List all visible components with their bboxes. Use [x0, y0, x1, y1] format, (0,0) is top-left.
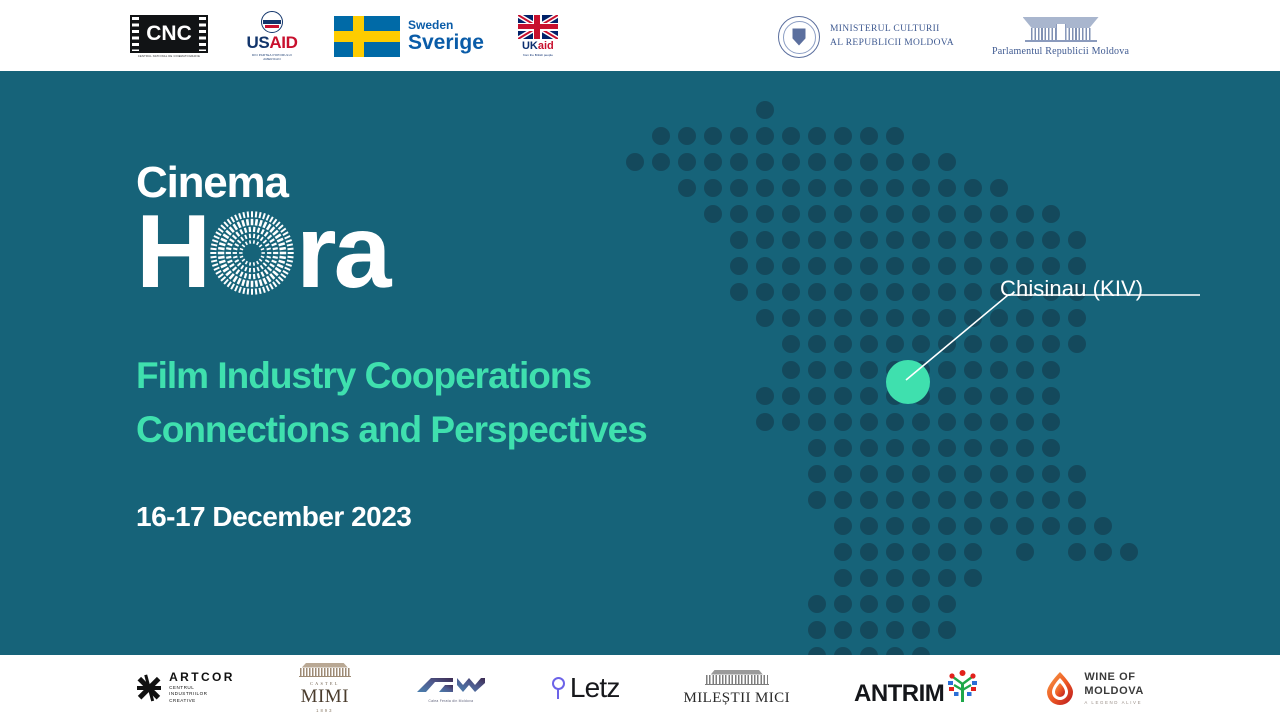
map-dot: [1016, 543, 1034, 561]
castel-mimi-logo: CASTEL MIMI 1893: [299, 663, 351, 713]
parliament-label: Parlamentul Republicii Moldova: [992, 46, 1129, 57]
artcor-sub-2: INDUSTRIILOR: [169, 691, 235, 698]
map-dot: [886, 621, 904, 639]
sweden-label-en: Sweden: [408, 19, 484, 31]
map-dot: [990, 517, 1008, 535]
antrim-tree-icon: [946, 670, 980, 702]
map-dot: [834, 517, 852, 535]
map-dot: [886, 517, 904, 535]
hora-circle-icon: [209, 210, 295, 296]
usaid-wordmark: USAID: [247, 34, 298, 51]
ministry-line-2: AL REPUBLICII MOLDOVA: [830, 37, 954, 51]
ukaid-caption: from the British people: [523, 53, 553, 57]
map-dot: [1094, 543, 1112, 561]
map-dot: [860, 595, 878, 613]
map-dot: [1068, 517, 1086, 535]
map-dot: [964, 517, 982, 535]
map-dot: [886, 595, 904, 613]
sweden-flag-icon: [334, 16, 400, 57]
ministry-of-culture-logo: MINISTERUL CULTURII AL REPUBLICII MOLDOV…: [778, 16, 954, 58]
map-dot: [912, 569, 930, 587]
location-pin-icon: [551, 677, 566, 699]
title-hora: H ra: [136, 211, 388, 295]
event-title: Cinema H ra: [136, 161, 388, 295]
film-strip-icon: CNC: [130, 15, 208, 53]
map-dot: [912, 543, 930, 561]
map-dot: [964, 543, 982, 561]
map-dot: [912, 647, 930, 655]
map-dot: [912, 595, 930, 613]
event-date: 16-17 December 2023: [136, 501, 411, 533]
artcor-sub-3: CREATIVE: [169, 698, 235, 705]
ukaid-aid: aid: [538, 40, 554, 52]
map-dot: [938, 621, 956, 639]
map-dot: [886, 543, 904, 561]
map-dot: [860, 647, 878, 655]
milestii-title: MILEȘTII MICI: [684, 691, 790, 706]
cnc-caption: CENTRUL NATIONAL DE CINEMATOGRAFIE: [138, 55, 200, 58]
donor-logos-right: MINISTERUL CULTURII AL REPUBLICII MOLDOV…: [778, 12, 1129, 62]
map-dot: [964, 569, 982, 587]
wine-line-2: MOLDOVA: [1084, 684, 1144, 698]
parliament-logo: Parlamentul Republicii Moldova: [992, 17, 1129, 57]
cnc-logo: CNC CENTRUL NATIONAL DE CINEMATOGRAFIE: [128, 15, 210, 58]
map-dot: [912, 517, 930, 535]
letz-title: Letz: [570, 674, 620, 702]
cfm-logo: Calea Ferata din Moldova: [415, 673, 487, 703]
map-dot: [860, 621, 878, 639]
usaid-caption-2: AMERICAN: [252, 57, 292, 61]
map-dot: [834, 569, 852, 587]
artcor-title: ARTCOR: [169, 671, 235, 683]
wine-droplet-icon: [1044, 671, 1076, 705]
map-dot: [808, 595, 826, 613]
poster-stage: CNC CENTRUL NATIONAL DE CINEMATOGRAFIE U…: [0, 0, 1280, 720]
sweden-logo: Sweden Sverige: [334, 16, 484, 57]
map-dot: [834, 543, 852, 561]
usaid-seal-icon: [261, 11, 283, 33]
union-jack-icon: [518, 15, 558, 39]
milestii-building-icon: [705, 670, 769, 688]
artcor-sub-1: CENTRUL: [169, 685, 235, 692]
antrim-title: ANTRIM: [854, 682, 944, 706]
cfm-mark-icon: [415, 673, 487, 697]
usaid-us: US: [247, 33, 270, 52]
ministry-line-1: MINISTERUL CULTURII: [830, 23, 954, 37]
sweden-label-sv: Sverige: [408, 32, 484, 53]
hero-panel: Chisinau (KIV) Cinema H ra Film Industry…: [0, 71, 1280, 655]
wine-line-1: WINE OF: [1084, 670, 1144, 684]
map-dot: [860, 543, 878, 561]
castel-building-icon: [299, 663, 351, 679]
partner-logo-bar: ARTCOR CENTRUL INDUSTRIILOR CREATIVE CAS…: [0, 655, 1280, 720]
milestii-mici-logo: MILEȘTII MICI: [684, 670, 790, 706]
map-dot: [938, 543, 956, 561]
map-dot: [834, 621, 852, 639]
wine-of-moldova-logo: WINE OF MOLDOVA A LEGEND ALIVE: [1044, 670, 1144, 706]
map-dot: [886, 569, 904, 587]
castel-mimi-prefix: CASTEL: [310, 681, 339, 686]
usaid-aid: AID: [269, 33, 297, 52]
ukaid-logo: UKaid from the British people: [514, 15, 562, 58]
title-hora-ra: ra: [296, 212, 388, 293]
map-dot: [834, 647, 852, 655]
map-dot: [1120, 543, 1138, 561]
castel-mimi-year: 1893: [316, 708, 333, 713]
map-dot: [860, 517, 878, 535]
map-dot: [808, 621, 826, 639]
map-dot: [1042, 517, 1060, 535]
ukaid-uk: UK: [522, 40, 538, 52]
subtitle-line-2: Connections and Perspectives: [136, 403, 647, 457]
map-dot: [938, 569, 956, 587]
map-dot: [1094, 517, 1112, 535]
letz-logo: Letz: [551, 674, 620, 702]
event-subtitle: Film Industry Cooperations Connections a…: [136, 349, 647, 456]
moldova-coat-of-arms-icon: [778, 16, 820, 58]
map-dot: [860, 569, 878, 587]
cfm-caption: Calea Ferata din Moldova: [428, 699, 473, 703]
artcor-logo: ARTCOR CENTRUL INDUSTRIILOR CREATIVE: [136, 671, 235, 705]
map-dot: [1016, 517, 1034, 535]
castel-mimi-title: MIMI: [301, 687, 349, 706]
cnc-letters: CNC: [146, 23, 192, 44]
subtitle-line-1: Film Industry Cooperations: [136, 349, 647, 403]
chisinau-label: Chisinau (KIV): [1000, 276, 1143, 302]
map-dot: [938, 595, 956, 613]
moldova-dot-map: [610, 101, 1110, 631]
antrim-logo: ANTRIM: [854, 670, 980, 706]
map-dot: [1068, 543, 1086, 561]
artcor-star-icon: [136, 675, 162, 701]
map-dot: [912, 621, 930, 639]
usaid-logo: USAID DIN PARTEA POPORULUI AMERICAN: [240, 11, 304, 61]
donor-logo-bar: CNC CENTRUL NATIONAL DE CINEMATOGRAFIE U…: [0, 0, 1280, 71]
map-dot: [834, 595, 852, 613]
donor-logos-left: CNC CENTRUL NATIONAL DE CINEMATOGRAFIE U…: [128, 9, 562, 63]
title-hora-h: H: [136, 212, 208, 293]
ukaid-wordmark: UKaid: [522, 41, 554, 52]
map-dot: [938, 517, 956, 535]
wine-tagline: A LEGEND ALIVE: [1084, 700, 1144, 705]
map-dot: [886, 647, 904, 655]
parliament-building-icon: [1023, 17, 1099, 43]
map-dot: [808, 647, 826, 655]
